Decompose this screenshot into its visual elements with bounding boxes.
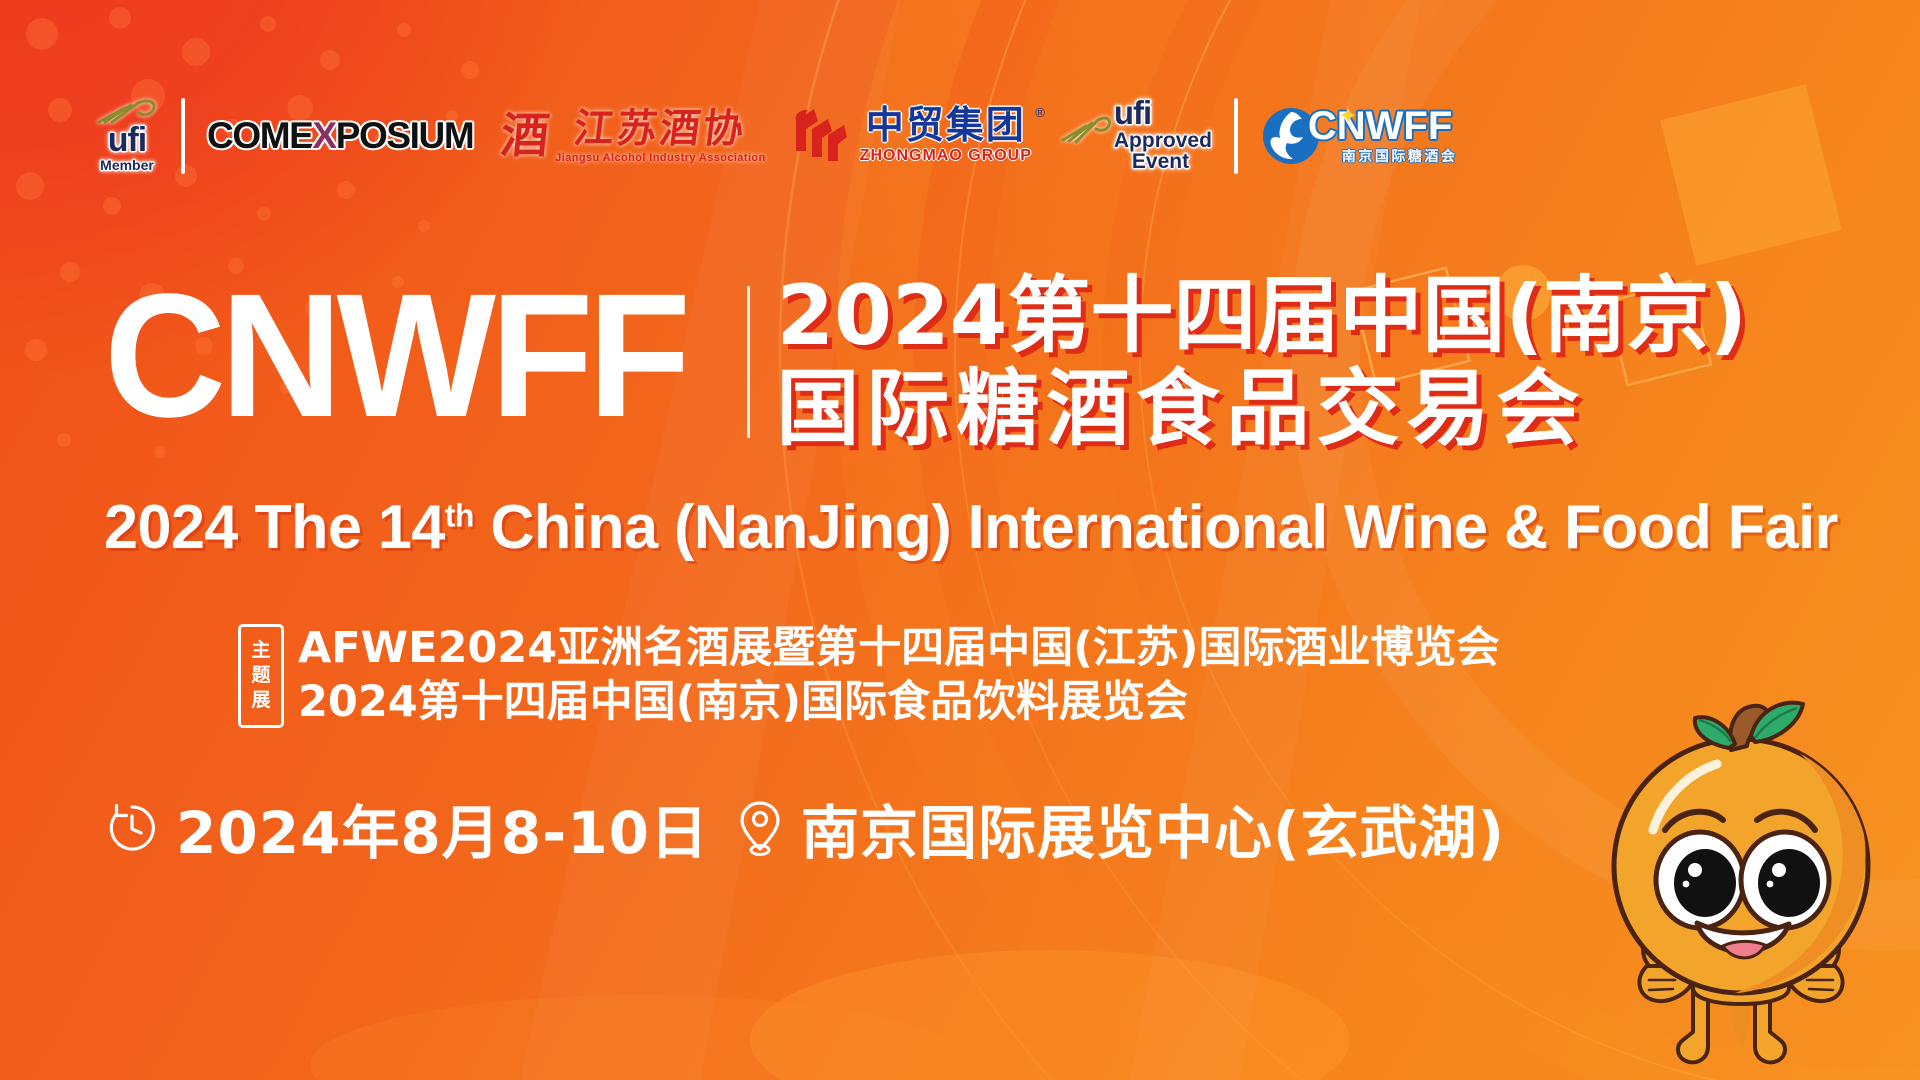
ufi-event-label: Event [1132,151,1189,172]
logo-ufi-approved-event[interactable]: ufi Approved Event [1060,90,1212,182]
event-info-row: 2024年8月8-10日 南京国际展览中心(玄武湖) [104,786,1505,870]
logo-ufi-member[interactable]: ufi Member [95,90,159,182]
event-date-text: 2024年8月8-10日 [176,786,709,870]
comexposium-part2: POSIUM [336,115,474,157]
theme-badge-char-1: 主 [251,639,270,662]
jiangsu-cn-name: 江苏酒协 [572,109,749,149]
ufi-member-label: Member [100,157,154,173]
event-date-item: 2024年8月8-10日 [104,786,709,870]
cnwff-cn-subtitle: 南京国际糖酒会 [1342,146,1458,166]
theme-badge-char-2: 题 [251,664,270,687]
jiangsu-en-name: Jiangsu Alcohol Industry Association [555,152,765,164]
zhongmao-en-name: ZHONGMAO GROUP [860,147,1032,165]
en-subtitle-before: 2024 The 14 [104,493,445,562]
ufi-wordmark: ufi [1114,100,1151,126]
event-banner: ufi Member COMEXPOSIUM 酒 江苏酒协 Jiangsu Al… [0,0,1920,1080]
location-pin-icon [735,799,785,857]
theme-line-1: AFWE2024亚洲名酒展暨第十四届中国(江苏)国际酒业博览会 [298,624,1499,674]
headline-cn-line-1: 2024第十四届中国(南京) [776,270,1747,363]
headline-divider [747,286,750,438]
sponsor-logo-bar: ufi Member COMEXPOSIUM 酒 江苏酒协 Jiangsu Al… [95,90,1457,182]
cnwff-wordmark: CNWFF [1308,107,1458,145]
logo-zhongmao-group[interactable]: 中贸集团 ZHONGMAO GROUP ® [792,90,1032,182]
event-venue-item: 南京国际展览中心(玄武湖) [735,786,1505,870]
mascot-svg [1545,680,1920,1080]
headline-en-subtitle: 2024 The 14th China (NanJing) Internatio… [104,492,1838,563]
page-title-acronym: CNWFF [104,270,685,442]
logo-divider-1 [181,98,185,174]
jiangsu-seal-glyph: 酒 [499,112,552,160]
logo-jiangsu-alcohol-association[interactable]: 酒 江苏酒协 Jiangsu Alcohol Industry Associat… [501,90,765,182]
headline-cn-line-2: 国际糖酒食品交易会 [776,363,1747,456]
zhongmao-horse-icon [792,107,852,165]
theme-badge-char-3: 展 [251,689,270,712]
theme-exhibitions-block: 主 题 展 AFWE2024亚洲名酒展暨第十四届中国(江苏)国际酒业博览会 20… [238,624,1499,728]
theme-badge: 主 题 展 [238,624,284,728]
comexposium-part1: COME [207,115,312,157]
logo-comexposium[interactable]: COMEXPOSIUM [207,90,473,182]
event-venue-text: 南京国际展览中心(玄武湖) [801,786,1505,870]
comexposium-x: X [312,115,335,157]
clock-icon [104,800,160,856]
en-subtitle-ordinal: th [445,497,474,533]
orange-fruit-mascot [1545,680,1920,1080]
headline-block: CNWFF 2024第十四届中国(南京) 国际糖酒食品交易会 [104,270,1747,456]
logo-cnwff[interactable]: CNWFF 南京国际糖酒会 ✦ [1260,90,1458,182]
en-subtitle-after: China (NanJing) International Wine & Foo… [474,493,1838,562]
ufi-wing-icon [1060,114,1112,144]
theme-line-2: 2024第十四届中国(南京)国际食品饮料展览会 [298,678,1499,728]
registered-trademark-icon: ® [1035,105,1045,120]
ufi-approved-label: Approved [1114,130,1212,151]
ufi-wordmark: ufi [108,126,147,155]
zhongmao-cn-name: 中贸集团 [866,107,1026,145]
logo-divider-2 [1234,98,1238,174]
sparkle-icon: ✦ [1338,102,1358,131]
